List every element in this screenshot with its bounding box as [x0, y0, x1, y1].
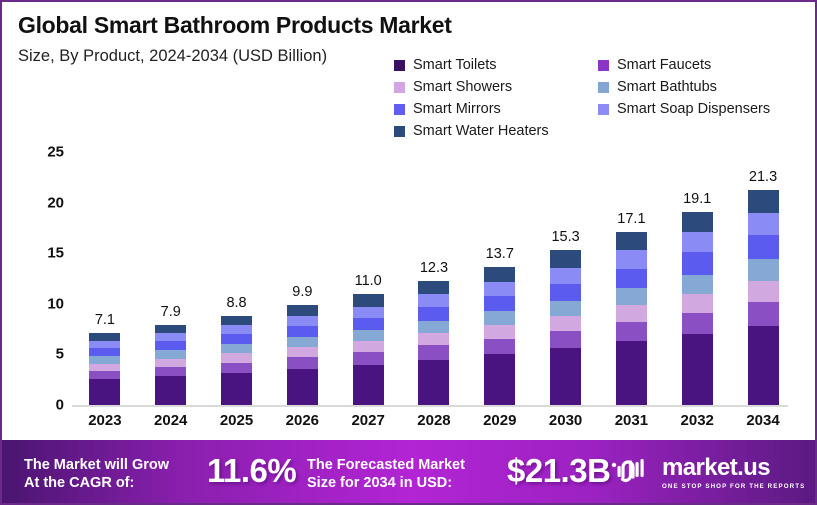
bar-segment-smart-water-heaters[interactable]: [353, 294, 384, 307]
cagr-value: 11.6%: [207, 452, 296, 490]
cagr-label: The Market will Grow At the CAGR of:: [24, 456, 169, 492]
x-axis-tick: 2026: [269, 412, 335, 436]
bar-segment-smart-showers[interactable]: [550, 316, 581, 331]
bar-segment-smart-mirrors[interactable]: [550, 284, 581, 301]
bar-value-label: 9.9: [292, 284, 312, 300]
bar-segment-smart-toilets[interactable]: [616, 341, 647, 405]
chart-card: Global Smart Bathroom Products Market Si…: [0, 0, 817, 505]
legend-swatch-icon: [394, 104, 405, 115]
bar-segment-smart-mirrors[interactable]: [418, 307, 449, 321]
bar-segment-smart-water-heaters[interactable]: [682, 212, 713, 232]
legend-item-smart-soap-dispensers[interactable]: Smart Soap Dispensers: [598, 98, 770, 120]
legend-item-smart-faucets[interactable]: Smart Faucets: [598, 54, 711, 76]
bar-column[interactable]: 12.3: [401, 137, 467, 405]
bar-segment-smart-faucets[interactable]: [89, 371, 120, 379]
bar-segment-smart-soap-dispensers[interactable]: [748, 213, 779, 235]
legend-row: Smart ToiletsSmart Faucets: [394, 54, 804, 76]
bar-column[interactable]: 15.3: [533, 137, 599, 405]
bar-segment-smart-showers[interactable]: [616, 305, 647, 322]
bar-value-label: 8.8: [226, 295, 246, 311]
bar-segment-smart-showers[interactable]: [484, 325, 515, 339]
bar-value-label: 12.3: [420, 260, 448, 276]
bar-column[interactable]: 13.7: [467, 137, 533, 405]
y-axis-tick: 15: [8, 245, 64, 262]
bar-segment-smart-toilets[interactable]: [748, 326, 779, 405]
bar-segment-smart-mirrors[interactable]: [287, 326, 318, 337]
bar-segment-smart-soap-dispensers[interactable]: [418, 294, 449, 307]
bar-segment-smart-water-heaters[interactable]: [418, 281, 449, 294]
bar-segment-smart-toilets[interactable]: [287, 369, 318, 405]
bar-segment-smart-soap-dispensers[interactable]: [550, 268, 581, 284]
bar-group: 7.17.98.89.911.012.313.715.317.119.121.3: [72, 137, 796, 405]
legend-item-label: Smart Showers: [413, 79, 512, 95]
bar-segment-smart-soap-dispensers[interactable]: [484, 282, 515, 296]
legend-item-label: Smart Bathtubs: [617, 79, 717, 95]
bar-segment-smart-showers[interactable]: [748, 281, 779, 302]
bar-segment-smart-water-heaters[interactable]: [484, 267, 515, 282]
bar-segment-smart-faucets[interactable]: [748, 302, 779, 326]
legend-swatch-icon: [598, 104, 609, 115]
bar-stack: [221, 316, 252, 405]
bar-segment-smart-toilets[interactable]: [221, 373, 252, 405]
bar-segment-smart-toilets[interactable]: [550, 348, 581, 405]
bar-segment-smart-faucets[interactable]: [616, 322, 647, 341]
bar-segment-smart-water-heaters[interactable]: [89, 333, 120, 341]
bar-segment-smart-soap-dispensers[interactable]: [89, 341, 120, 348]
bar-stack: [550, 250, 581, 405]
bar-segment-smart-soap-dispensers[interactable]: [682, 232, 713, 252]
bar-value-label: 11.0: [355, 273, 382, 289]
forecast-label-line2: Size for 2034 in USD:: [307, 474, 465, 492]
bar-segment-smart-mirrors[interactable]: [353, 318, 384, 330]
logo-name: market.us: [662, 456, 805, 480]
bar-segment-smart-faucets[interactable]: [155, 367, 186, 376]
bar-segment-smart-bathtubs[interactable]: [682, 275, 713, 294]
market-us-logo[interactable]: market.us ONE STOP SHOP FOR THE REPORTS: [610, 456, 805, 490]
bar-stack: [418, 281, 449, 405]
bar-segment-smart-bathtubs[interactable]: [221, 344, 252, 353]
forecast-value: $21.3B: [507, 452, 610, 490]
bar-segment-smart-bathtubs[interactable]: [353, 330, 384, 341]
bar-segment-smart-bathtubs[interactable]: [484, 311, 515, 325]
logo-text: market.us ONE STOP SHOP FOR THE REPORTS: [662, 456, 805, 490]
x-axis-tick: 2027: [335, 412, 401, 436]
legend-swatch-icon: [394, 60, 405, 71]
x-axis-tick: 2028: [401, 412, 467, 436]
bar-value-label: 21.3: [749, 169, 777, 185]
legend-item-smart-showers[interactable]: Smart Showers: [394, 76, 512, 98]
bar-value-label: 19.1: [683, 191, 711, 207]
bar-segment-smart-showers[interactable]: [89, 364, 120, 371]
bar-segment-smart-toilets[interactable]: [89, 379, 120, 405]
legend-swatch-icon: [394, 82, 405, 93]
bar-segment-smart-soap-dispensers[interactable]: [616, 250, 647, 268]
y-axis-tick: 10: [8, 295, 64, 312]
x-axis: 2023202420252026202720282029203020312032…: [72, 412, 796, 436]
legend-item-label: Smart Mirrors: [413, 101, 501, 117]
bar-column[interactable]: 21.3: [730, 137, 796, 405]
bar-segment-smart-water-heaters[interactable]: [221, 316, 252, 325]
bar-segment-smart-bathtubs[interactable]: [616, 288, 647, 305]
bar-segment-smart-bathtubs[interactable]: [155, 350, 186, 358]
bar-segment-smart-bathtubs[interactable]: [287, 337, 318, 347]
bar-segment-smart-mirrors[interactable]: [89, 348, 120, 356]
bar-segment-smart-showers[interactable]: [682, 294, 713, 313]
legend-swatch-icon: [598, 60, 609, 71]
x-axis-tick: 2029: [467, 412, 533, 436]
x-axis-tick: 2032: [664, 412, 730, 436]
legend-item-smart-bathtubs[interactable]: Smart Bathtubs: [598, 76, 717, 98]
bar-segment-smart-toilets[interactable]: [682, 334, 713, 405]
y-axis-tick: 0: [8, 397, 64, 414]
legend-item-smart-mirrors[interactable]: Smart Mirrors: [394, 98, 501, 120]
bar-segment-smart-showers[interactable]: [221, 353, 252, 362]
bar-segment-smart-soap-dispensers[interactable]: [353, 307, 384, 318]
bar-segment-smart-water-heaters[interactable]: [287, 305, 318, 316]
bar-column[interactable]: 7.1: [72, 137, 138, 405]
bar-segment-smart-toilets[interactable]: [353, 365, 384, 405]
bar-stack: [484, 267, 515, 406]
bar-segment-smart-bathtubs[interactable]: [748, 259, 779, 280]
x-axis-tick: 2031: [599, 412, 665, 436]
legend-item-smart-toilets[interactable]: Smart Toilets: [394, 54, 497, 76]
bar-segment-smart-soap-dispensers[interactable]: [221, 325, 252, 334]
legend-row: Smart MirrorsSmart Soap Dispensers: [394, 98, 804, 120]
bar-segment-smart-mirrors[interactable]: [484, 296, 515, 311]
x-axis-tick: 2023: [72, 412, 138, 436]
bar-value-label: 7.9: [161, 304, 181, 320]
bar-column[interactable]: 9.9: [269, 137, 335, 405]
bar-segment-smart-soap-dispensers[interactable]: [287, 316, 318, 326]
bar-segment-smart-mirrors[interactable]: [682, 252, 713, 274]
bar-stack: [682, 212, 713, 405]
bar-segment-smart-faucets[interactable]: [484, 339, 515, 354]
bar-segment-smart-toilets[interactable]: [484, 354, 515, 405]
bar-segment-smart-bathtubs[interactable]: [89, 356, 120, 363]
bar-segment-smart-mirrors[interactable]: [155, 341, 186, 350]
bar-segment-smart-faucets[interactable]: [353, 352, 384, 364]
bar-stack: [89, 333, 120, 405]
bar-segment-smart-mirrors[interactable]: [748, 235, 779, 259]
bar-segment-smart-showers[interactable]: [418, 333, 449, 345]
bar-column[interactable]: 8.8: [204, 137, 270, 405]
legend-item-label: Smart Faucets: [617, 57, 711, 73]
bar-segment-smart-bathtubs[interactable]: [550, 301, 581, 316]
bar-segment-smart-faucets[interactable]: [287, 357, 318, 368]
footer-banner: The Market will Grow At the CAGR of: 11.…: [2, 440, 817, 503]
forecast-label: The Forecasted Market Size for 2034 in U…: [307, 456, 465, 492]
cagr-label-line1: The Market will Grow: [24, 456, 169, 474]
bar-value-label: 7.1: [95, 312, 115, 328]
chart-legend: Smart ToiletsSmart FaucetsSmart ShowersS…: [394, 54, 804, 142]
legend-swatch-icon: [394, 126, 405, 137]
bar-segment-smart-toilets[interactable]: [155, 376, 186, 405]
x-axis-tick: 2030: [533, 412, 599, 436]
bar-stack: [287, 305, 318, 405]
bar-segment-smart-mirrors[interactable]: [221, 334, 252, 344]
bar-segment-smart-mirrors[interactable]: [616, 269, 647, 288]
x-axis-tick: 2034: [730, 412, 796, 436]
bar-value-label: 17.1: [617, 211, 645, 227]
bar-stack: [353, 294, 384, 405]
forecast-label-line1: The Forecasted Market: [307, 456, 465, 474]
x-axis-tick: 2024: [138, 412, 204, 436]
bar-segment-smart-showers[interactable]: [353, 341, 384, 352]
bar-stack: [616, 232, 647, 405]
chart-subtitle: Size, By Product, 2024-2034 (USD Billion…: [18, 47, 327, 66]
bar-column[interactable]: 19.1: [664, 137, 730, 405]
cagr-label-line2: At the CAGR of:: [24, 474, 169, 492]
y-axis-tick: 25: [8, 144, 64, 161]
bar-segment-smart-toilets[interactable]: [418, 360, 449, 406]
chart-header: Global Smart Bathroom Products Market Si…: [2, 2, 817, 132]
axis-baseline: [72, 405, 788, 407]
y-axis-tick: 5: [8, 346, 64, 363]
bar-segment-smart-bathtubs[interactable]: [418, 321, 449, 333]
bar-segment-smart-faucets[interactable]: [418, 345, 449, 359]
y-axis-tick: 20: [8, 194, 64, 211]
y-axis: 0510152025: [2, 137, 64, 405]
bar-segment-smart-faucets[interactable]: [221, 363, 252, 373]
legend-swatch-icon: [598, 82, 609, 93]
legend-row: Smart ShowersSmart Bathtubs: [394, 76, 804, 98]
bar-segment-smart-faucets[interactable]: [682, 313, 713, 334]
bar-segment-smart-showers[interactable]: [155, 359, 186, 367]
bar-segment-smart-soap-dispensers[interactable]: [155, 333, 186, 341]
legend-item-label: Smart Soap Dispensers: [617, 101, 770, 117]
bar-segment-smart-water-heaters[interactable]: [616, 232, 647, 250]
bar-segment-smart-water-heaters[interactable]: [550, 250, 581, 267]
bar-segment-smart-water-heaters[interactable]: [748, 190, 779, 213]
x-axis-tick: 2025: [204, 412, 270, 436]
bar-column[interactable]: 17.1: [599, 137, 665, 405]
logo-tagline: ONE STOP SHOP FOR THE REPORTS: [662, 483, 805, 490]
legend-item-label: Smart Toilets: [413, 57, 497, 73]
bar-stack: [748, 190, 779, 405]
bar-value-label: 15.3: [551, 229, 579, 245]
page-title: Global Smart Bathroom Products Market: [18, 12, 452, 39]
bar-column[interactable]: 7.9: [138, 137, 204, 405]
bar-segment-smart-faucets[interactable]: [550, 331, 581, 348]
market-us-logo-icon: [610, 456, 656, 486]
bar-segment-smart-showers[interactable]: [287, 347, 318, 357]
bar-column[interactable]: 11.0: [335, 137, 401, 405]
bar-segment-smart-water-heaters[interactable]: [155, 325, 186, 333]
bar-value-label: 13.7: [486, 246, 514, 262]
bar-stack: [155, 325, 186, 405]
